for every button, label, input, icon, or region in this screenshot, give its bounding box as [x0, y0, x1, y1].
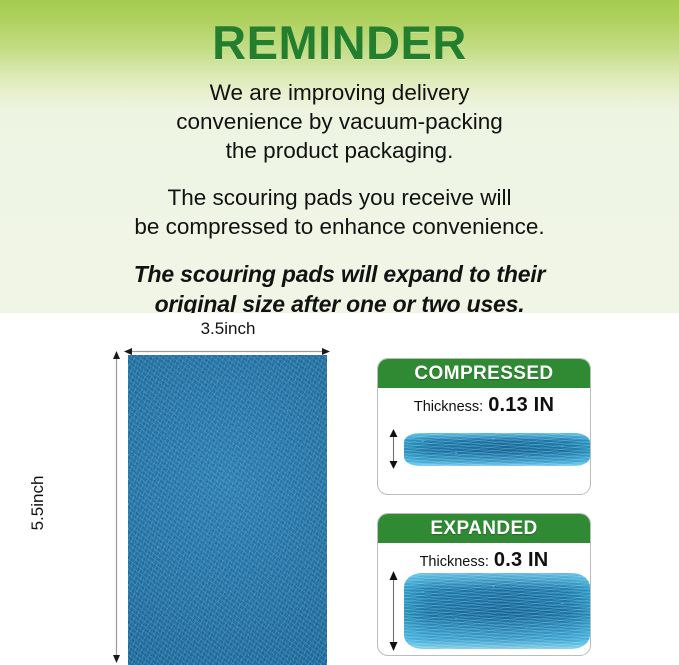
notice-line: be compressed to enhance convenience. — [24, 213, 655, 242]
expanded-thickness-readout: Thickness:0.3 IN — [378, 543, 590, 572]
compressed-panel-body: Thickness:0.13 IN — [378, 388, 590, 494]
height-dimension-arrow-icon — [112, 351, 121, 663]
thickness-label: Thickness: — [414, 399, 483, 415]
expanded-pad-edge-image — [404, 573, 590, 649]
compressed-pad-edge-image — [404, 433, 590, 466]
scouring-pad-figure: 3.5inch 5.5inch — [0, 313, 360, 663]
scouring-pad-image — [128, 355, 327, 665]
compressed-panel-header: COMPRESSED — [378, 359, 590, 388]
notice-paragraph-expand: The scouring pads will expand to their o… — [0, 260, 679, 319]
thickness-value: 0.13 IN — [488, 394, 554, 416]
compressed-thickness-readout: Thickness:0.13 IN — [378, 388, 590, 417]
page-title: REMINDER — [0, 0, 679, 67]
notice-line: convenience by vacuum-packing — [24, 108, 655, 137]
pad-height-label: 5.5inch — [28, 443, 48, 563]
thickness-label: Thickness: — [420, 554, 489, 570]
notice-line: We are improving delivery — [24, 79, 655, 108]
notice-line: The scouring pads will expand to their — [24, 260, 655, 289]
expanded-thickness-arrow-icon — [388, 571, 399, 651]
thickness-value: 0.3 IN — [494, 549, 549, 571]
expanded-panel-header: EXPANDED — [378, 514, 590, 543]
notice-paragraph-delivery: We are improving delivery convenience by… — [0, 79, 679, 165]
expanded-panel-body: Thickness:0.3 IN — [378, 543, 590, 655]
product-illustration-area: 3.5inch 5.5inch COMPRESSED Thickness:0.1… — [0, 313, 679, 663]
expanded-thickness-panel: EXPANDED Thickness:0.3 IN — [377, 513, 591, 656]
compressed-thickness-arrow-icon — [388, 429, 399, 469]
notice-paragraph-compressed: The scouring pads you receive will be co… — [0, 184, 679, 242]
reminder-banner: REMINDER We are improving delivery conve… — [0, 0, 679, 313]
notice-line: The scouring pads you receive will — [24, 184, 655, 213]
notice-line: the product packaging. — [24, 137, 655, 166]
pad-width-label: 3.5inch — [128, 319, 328, 339]
compressed-thickness-panel: COMPRESSED Thickness:0.13 IN — [377, 358, 591, 495]
